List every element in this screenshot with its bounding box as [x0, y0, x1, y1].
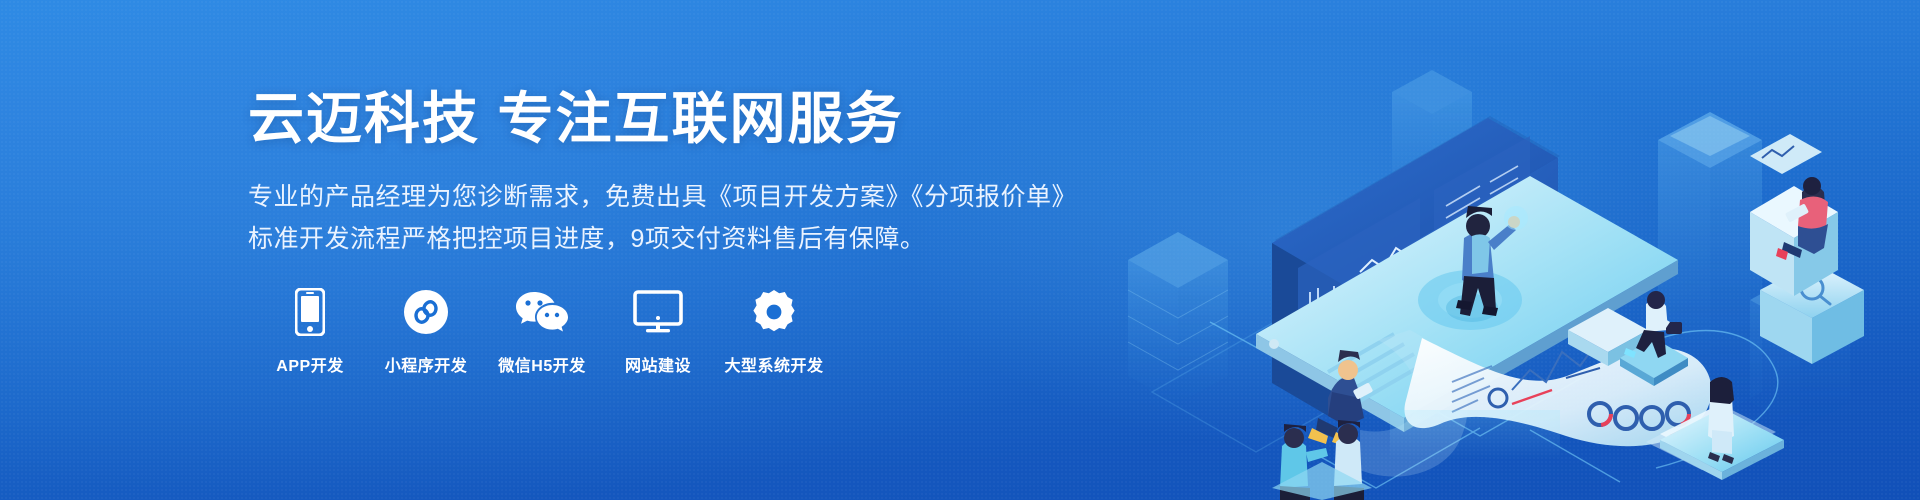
mobile-phone-icon	[295, 286, 325, 338]
service-icon-row: APP开发 小程序开发	[252, 286, 832, 376]
subtitle-line-1: 专业的产品经理为您诊断需求，免费出具《项目开发方案》《分项报价单》	[248, 176, 1077, 218]
wechat-icon	[515, 286, 569, 338]
monitor-icon	[633, 286, 683, 338]
page-title: 云迈科技 专注互联网服务	[248, 88, 904, 150]
dashboard-screen	[1272, 116, 1560, 424]
city-buildings-backdrop	[1128, 70, 1850, 430]
service-label-wechat: 微信H5开发	[498, 352, 585, 376]
service-label-app: APP开发	[276, 352, 343, 376]
person-walking-briefcase	[1568, 291, 1688, 386]
service-item-wechat[interactable]: 微信H5开发	[484, 286, 600, 376]
search-magnifier-block	[1760, 262, 1864, 364]
code-card	[1646, 404, 1776, 470]
banner-subtitle: 专业的产品经理为您诊断需求，免费出具《项目开发方案》《分项报价单》 标准开发流程…	[248, 176, 1077, 260]
service-item-website[interactable]: 网站建设	[600, 286, 716, 376]
tablet-platform	[1256, 176, 1678, 432]
person-woman-on-block	[1750, 134, 1838, 296]
service-label-website: 网站建设	[625, 352, 691, 376]
person-woman-on-phone-platform	[1660, 377, 1784, 480]
person-standing-pointing	[1446, 206, 1528, 322]
service-item-app[interactable]: APP开发	[252, 286, 368, 376]
data-report-scroll	[1360, 330, 1711, 477]
service-item-system[interactable]: 大型系统开发	[716, 286, 832, 376]
person-pair-lower-left	[1272, 420, 1372, 500]
promo-banner: 云迈科技 专注互联网服务 专业的产品经理为您诊断需求，免费出具《项目开发方案》《…	[0, 0, 1920, 500]
banner-content: 云迈科技 专注互联网服务 专业的产品经理为您诊断需求，免费出具《项目开发方案》《…	[248, 0, 1148, 500]
service-label-miniprogram: 小程序开发	[385, 352, 468, 376]
mini-program-icon	[403, 286, 449, 338]
gear-icon	[751, 286, 797, 338]
isometric-illustration	[1060, 0, 1920, 500]
person-sitting-laptop	[1308, 350, 1373, 448]
service-label-system: 大型系统开发	[724, 352, 823, 376]
service-item-miniprogram[interactable]: 小程序开发	[368, 286, 484, 376]
subtitle-line-2: 标准开发流程严格把控项目进度，9项交付资料售后有保障。	[248, 218, 1077, 260]
connector-paths	[1152, 300, 1778, 488]
